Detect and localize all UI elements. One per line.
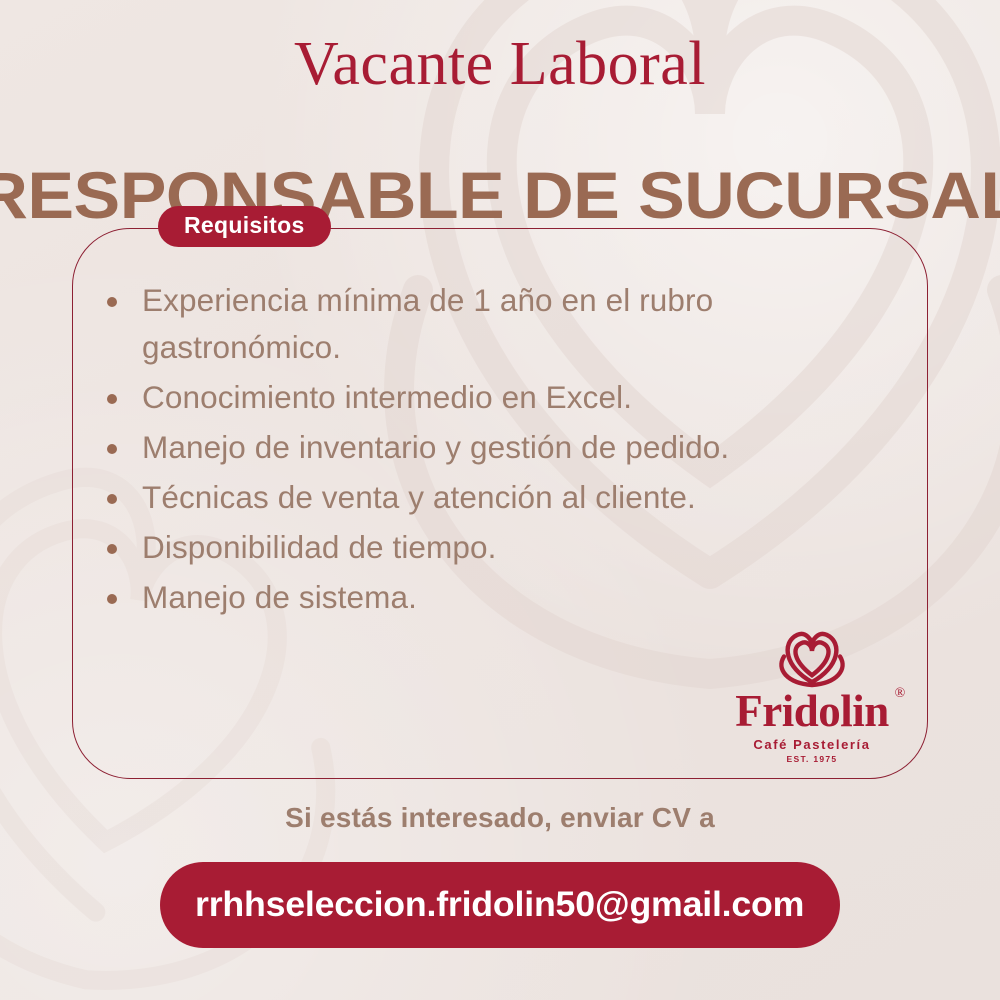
list-item: Manejo de inventario y gestión de pedido… xyxy=(100,424,860,471)
logo-established: EST. 1975 xyxy=(706,755,918,764)
list-item: Técnicas de venta y atención al cliente. xyxy=(100,474,860,521)
list-item: Conocimiento intermedio en Excel. xyxy=(100,374,860,421)
fridolin-logo: Fridolin ® Café Pastelería EST. 1975 xyxy=(706,628,918,760)
list-item: Experiencia mínima de 1 año en el rubro … xyxy=(100,277,860,371)
registered-trademark-icon: ® xyxy=(895,687,905,701)
requisitos-badge: Requisitos xyxy=(158,206,331,247)
list-item: Disponibilidad de tiempo. xyxy=(100,524,860,571)
logo-tagline: Café Pastelería xyxy=(706,738,918,751)
job-vacancy-poster: Vacante Laboral RESPONSABLE DE SUCURSAL … xyxy=(0,0,1000,1000)
poster-eyebrow-title: Vacante Laboral xyxy=(0,33,1000,95)
cta-instruction: Si estás interesado, enviar CV a xyxy=(0,802,1000,834)
heart-rose-emblem-icon xyxy=(775,628,849,688)
email-cta-button[interactable]: rrhhseleccion.fridolin50@gmail.com xyxy=(160,862,840,948)
requirements-list: Experiencia mínima de 1 año en el rubro … xyxy=(100,277,860,624)
list-item: Manejo de sistema. xyxy=(100,574,860,621)
logo-wordmark-text: Fridolin xyxy=(735,686,889,736)
logo-wordmark: Fridolin ® xyxy=(735,689,889,734)
page-title: RESPONSABLE DE SUCURSAL xyxy=(0,162,1000,228)
contact-email: rrhhseleccion.fridolin50@gmail.com xyxy=(195,885,804,925)
